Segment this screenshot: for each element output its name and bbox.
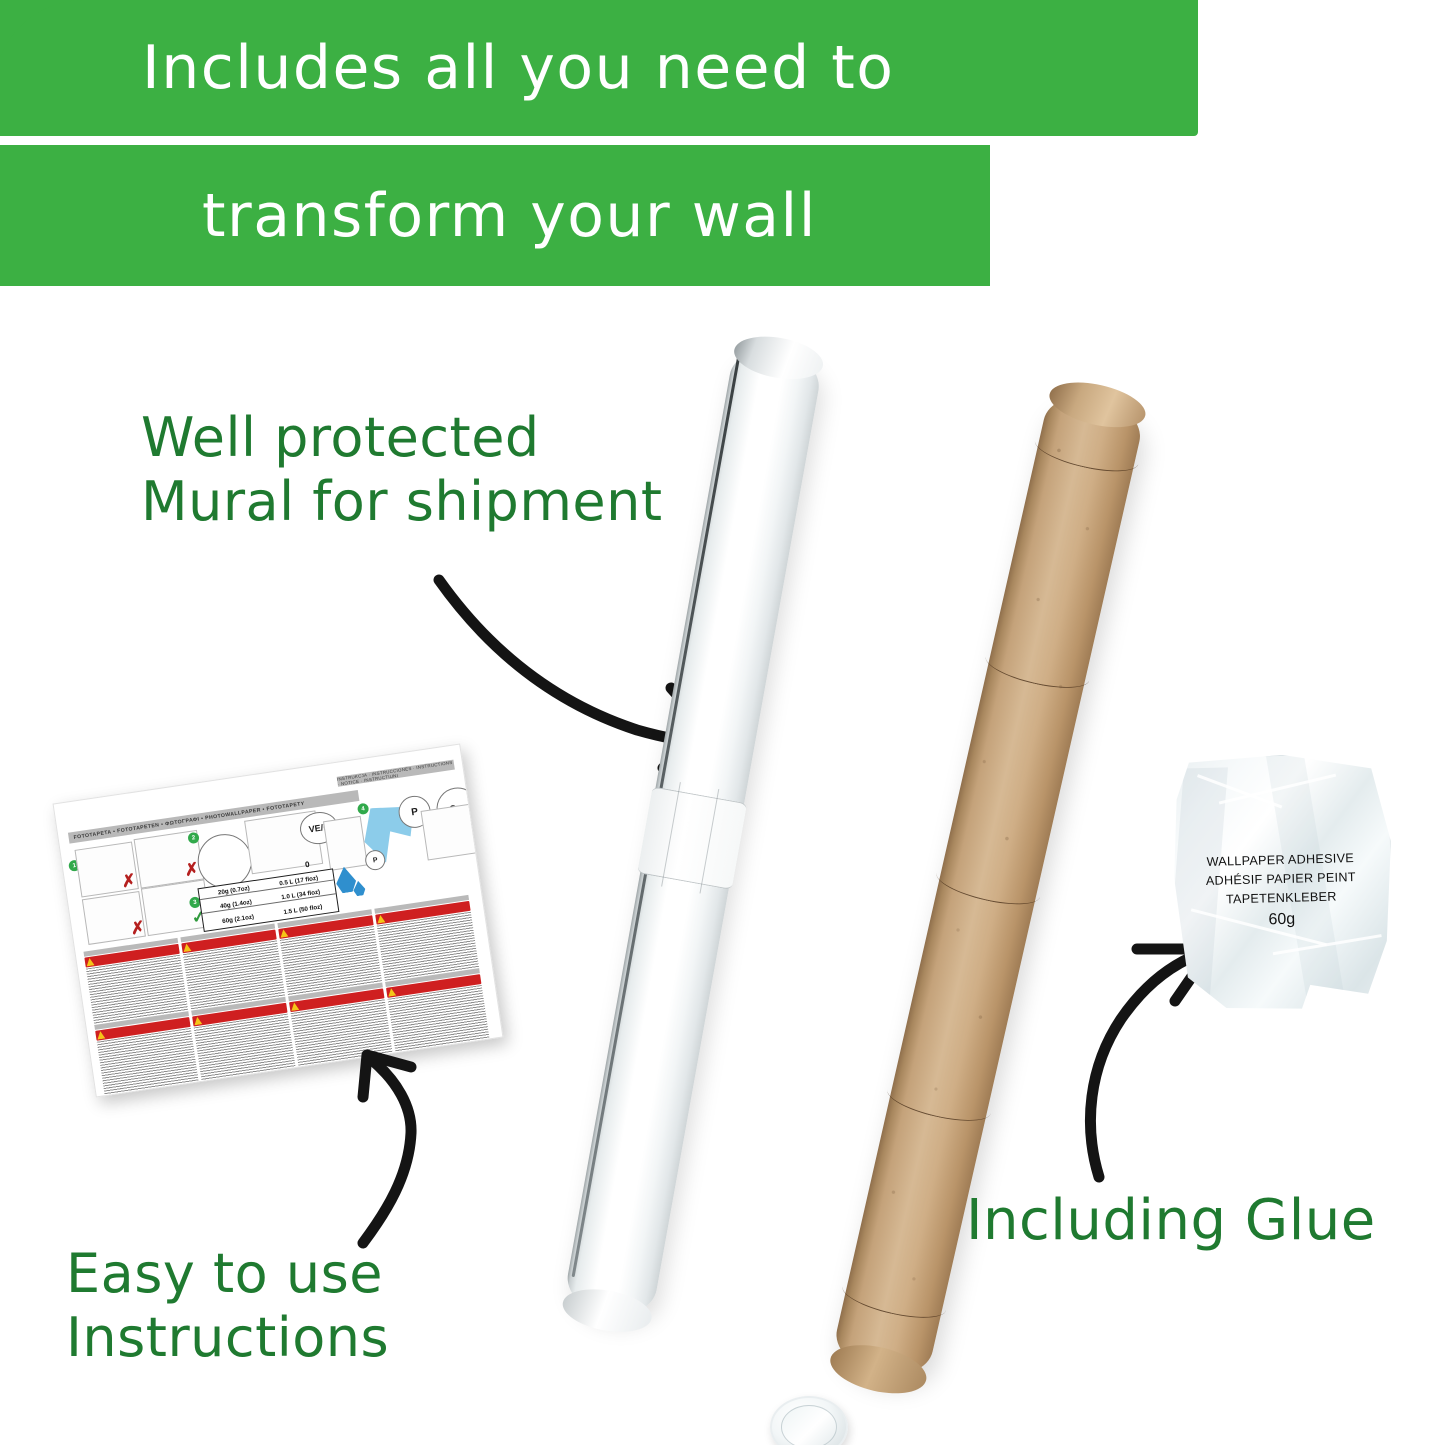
tube-end-cap bbox=[770, 1396, 848, 1445]
instruction-panel bbox=[421, 803, 484, 861]
headline-banner-top: Includes all you need to bbox=[0, 0, 1198, 136]
glue-packet: WALLPAPER ADHESIVE ADHÉSIF PAPIER PEINT … bbox=[1167, 752, 1396, 1020]
dose-litres: 1.0 L (34 floz) bbox=[268, 887, 334, 903]
cross-mark-icon: ✗ bbox=[129, 919, 146, 938]
callout-mural-label: Well protected Mural for shipment bbox=[141, 406, 663, 533]
arrow-to-instructions-icon bbox=[335, 1035, 495, 1260]
callout-glue-label: Including Glue bbox=[966, 1188, 1376, 1254]
dose-grams: 40g (1.4oz) bbox=[203, 897, 269, 913]
instruction-panel bbox=[323, 816, 368, 871]
headline-line-1: Includes all you need to bbox=[142, 38, 894, 98]
headline-line-2: transform your wall bbox=[202, 186, 817, 246]
mural-tube-tape-band bbox=[637, 786, 747, 890]
instruction-step-badge-4: 4 bbox=[357, 803, 369, 815]
glue-packet-label: WALLPAPER ADHESIVE ADHÉSIF PAPIER PEINT … bbox=[1169, 848, 1392, 910]
cross-mark-icon: ✗ bbox=[120, 871, 137, 890]
callout-instructions-label: Easy to use Instructions bbox=[66, 1242, 389, 1369]
headline-banner-bottom: transform your wall bbox=[0, 145, 990, 286]
dose-litres: 0.5 L (17 floz) bbox=[266, 873, 332, 889]
infographic-canvas: Includes all you need to transform your … bbox=[0, 0, 1445, 1445]
warning-block bbox=[191, 997, 296, 1085]
instruction-sheet-side-header: INSTRUKCJA · INSTRUCCIONES · INSTRUCTION… bbox=[337, 760, 455, 787]
warning-block bbox=[94, 1011, 199, 1097]
